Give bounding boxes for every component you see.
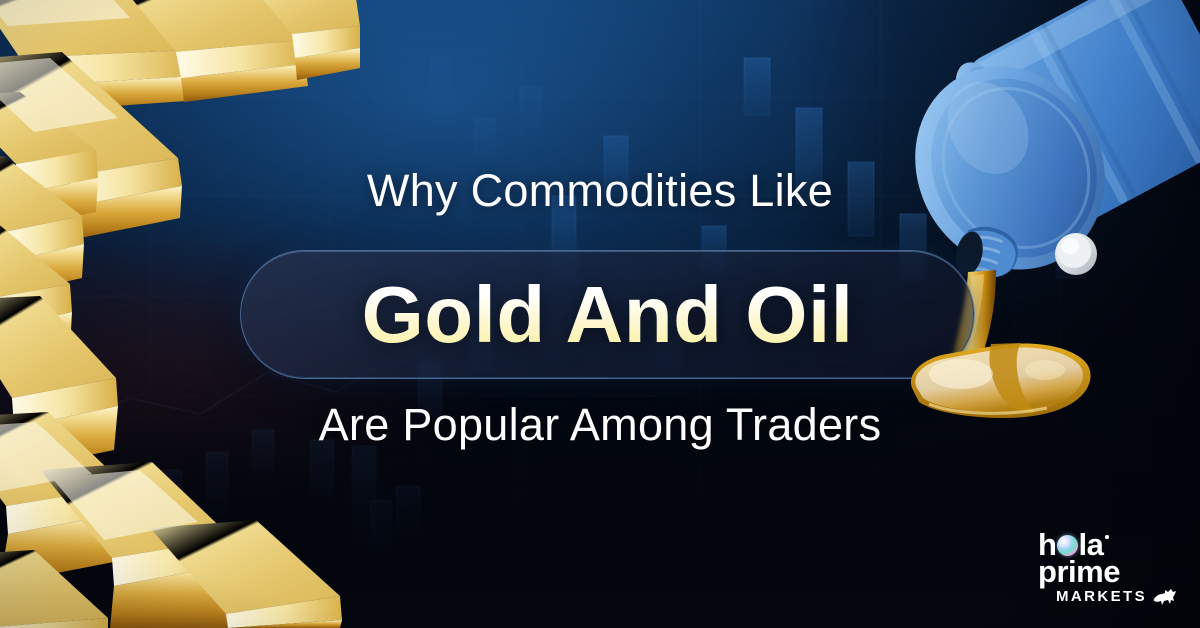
registered-dot-icon bbox=[1105, 535, 1109, 539]
brand-letters-la: la bbox=[1078, 532, 1103, 559]
headline-highlight-text: Gold And Oil bbox=[240, 250, 975, 379]
headline-block: Why Commodities Like bbox=[0, 168, 1200, 213]
brand-name-prime: prime bbox=[1038, 559, 1120, 586]
brand-tagline-row: MARKETS bbox=[1056, 588, 1178, 606]
bull-icon bbox=[1152, 588, 1178, 606]
headline-line-1: Why Commodities Like bbox=[0, 168, 1200, 213]
brand-name-hola: h la bbox=[1038, 532, 1109, 559]
banner-canvas: Why Commodities Like Gold And Oil Are Po… bbox=[0, 0, 1200, 628]
holographic-o-icon bbox=[1057, 535, 1078, 556]
brand-letter-h: h bbox=[1038, 532, 1056, 559]
brand-logo[interactable]: h la prime MARKETS bbox=[1038, 532, 1178, 606]
spilled-oil-puddle bbox=[895, 318, 1110, 436]
brand-name-markets: MARKETS bbox=[1056, 591, 1147, 604]
